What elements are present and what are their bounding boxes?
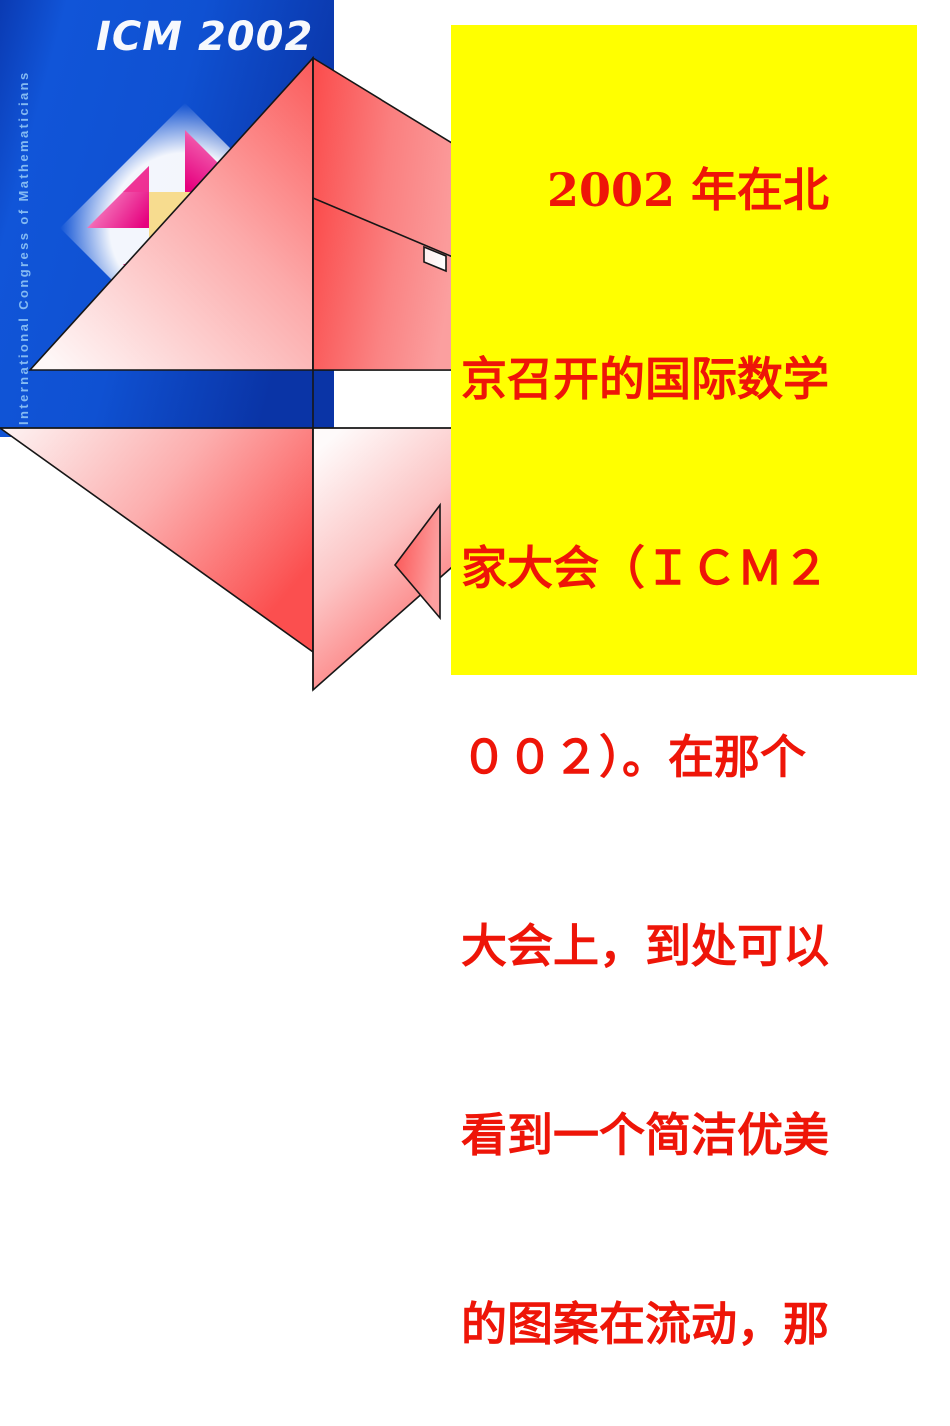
text-line: 2002 年在北	[461, 159, 911, 222]
yellow-text-panel: 2002 年在北 京召开的国际数学 家大会（ＩＣＭ２ ００２）。在那个 大会上，…	[451, 25, 917, 675]
svg-text:International Congress of Math: International Congress of Mathematicians	[16, 70, 31, 425]
slide-canvas: International Congress of Mathematicians…	[0, 0, 950, 713]
slide-body-text: 2002 年在北 京召开的国际数学 家大会（ＩＣＭ２ ００２）。在那个 大会上，…	[461, 33, 911, 1426]
text-line: 大会上，到处可以	[461, 915, 911, 978]
text-line: 的图案在流动，那	[461, 1293, 911, 1356]
icm-graphic: International Congress of Mathematicians…	[0, 0, 460, 713]
text-line: ００２）。在那个	[461, 726, 911, 789]
svg-text:ICM 2002: ICM 2002	[96, 14, 313, 60]
text-line: 看到一个简洁优美	[461, 1104, 911, 1167]
pinwheel-blade-lower-left	[0, 428, 313, 652]
poster-title: ICM 2002	[96, 14, 313, 60]
text-line: 京召开的国际数学	[461, 348, 911, 411]
poster-vertical-caption: International Congress of Mathematicians	[16, 70, 31, 425]
text-line: 家大会（ＩＣＭ２	[461, 537, 911, 600]
